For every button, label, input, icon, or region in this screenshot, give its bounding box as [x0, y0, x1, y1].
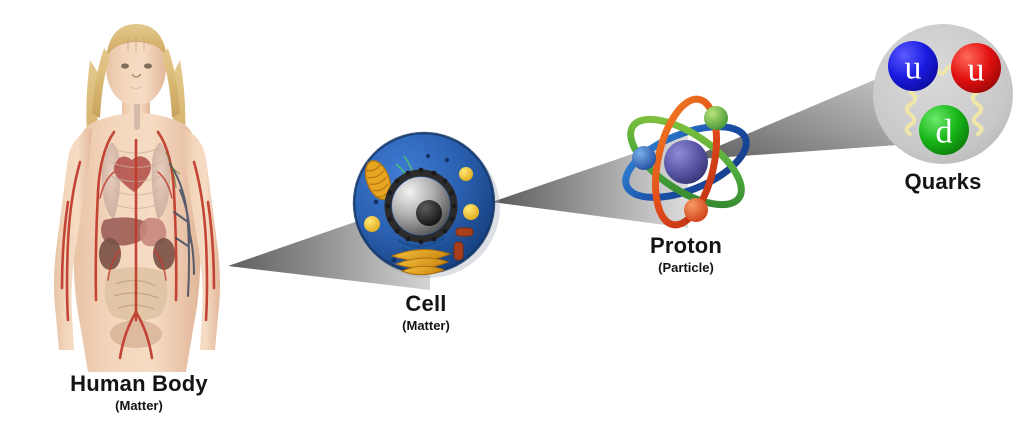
label-cell-title: Cell — [356, 292, 496, 317]
quark-symbol-u-red: u — [968, 52, 985, 89]
label-proton-subtitle: (Particle) — [616, 261, 756, 276]
quark-symbol-d-green: d — [936, 114, 953, 151]
human-anatomy-figure-icon — [28, 12, 248, 372]
label-quarks-title: Quarks — [873, 170, 1013, 195]
label-cell-subtitle: (Matter) — [356, 319, 496, 334]
atom-orbital-icon — [612, 88, 760, 236]
scale-of-matter-diagram: u u d Human Body (Matter) Cell (Matter) … — [0, 0, 1024, 434]
biological-cell-icon — [350, 128, 502, 280]
label-quarks: Quarks — [873, 170, 1013, 197]
label-proton: Proton (Particle) — [616, 234, 756, 275]
label-human-body: Human Body (Matter) — [40, 372, 238, 413]
quark-triplet-icon: u u d — [868, 22, 1018, 172]
quark-symbol-u-blue: u — [905, 50, 922, 87]
label-human-body-subtitle: (Matter) — [40, 399, 238, 414]
label-cell: Cell (Matter) — [356, 292, 496, 333]
label-human-body-title: Human Body — [40, 372, 238, 397]
label-proton-title: Proton — [616, 234, 756, 259]
